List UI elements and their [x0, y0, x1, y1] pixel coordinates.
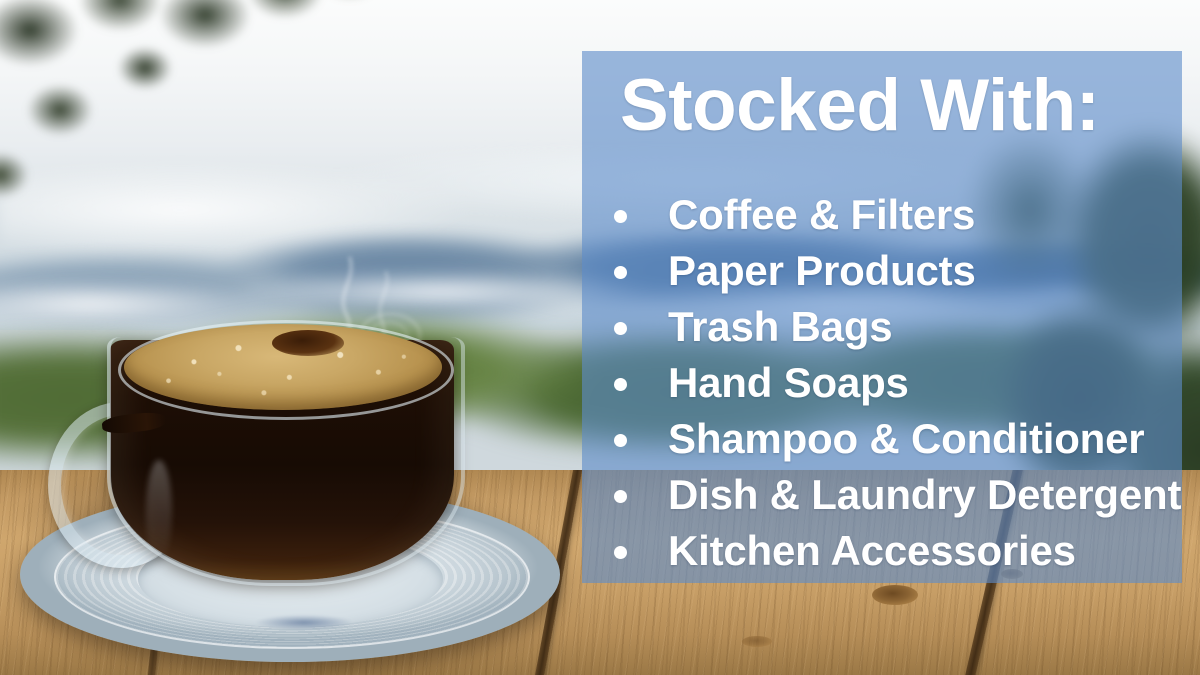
list-item: Kitchen Accessories [610, 523, 1170, 579]
list-item-label: Trash Bags [668, 303, 892, 350]
list-item-label: Hand Soaps [668, 359, 909, 406]
list-item: Coffee & Filters [610, 187, 1170, 243]
list-item: Paper Products [610, 243, 1170, 299]
wood-knot [872, 585, 918, 605]
promo-slide: Stocked With: Coffee & Filters Paper Pro… [0, 0, 1200, 675]
coffee-cup [96, 340, 468, 590]
list-item: Trash Bags [610, 299, 1170, 355]
list-item-label: Shampoo & Conditioner [668, 415, 1144, 462]
bullet-icon [614, 210, 627, 223]
bullet-icon [614, 546, 627, 559]
list-item: Dish & Laundry Detergent [610, 467, 1170, 523]
list-item-label: Dish & Laundry Detergent [668, 471, 1181, 518]
bullet-icon [614, 490, 627, 503]
list-item: Hand Soaps [610, 355, 1170, 411]
bullet-icon [614, 266, 627, 279]
list-item-label: Paper Products [668, 247, 976, 294]
coffee-crema-foam [124, 324, 442, 410]
stocked-with-panel: Stocked With: Coffee & Filters Paper Pro… [582, 51, 1182, 583]
list-item: Shampoo & Conditioner [610, 411, 1170, 467]
saucer-maker-mark [256, 615, 352, 630]
list-item-label: Kitchen Accessories [668, 527, 1076, 574]
bullet-icon [614, 434, 627, 447]
panel-title: Stocked With: [620, 69, 1100, 142]
wood-knot [742, 636, 772, 647]
bullet-icon [614, 378, 627, 391]
crema-dark-spot [272, 330, 344, 356]
stocked-items-list: Coffee & Filters Paper Products Trash Ba… [610, 187, 1170, 579]
list-item-label: Coffee & Filters [668, 191, 975, 238]
glass-highlight [146, 460, 172, 564]
bullet-icon [614, 322, 627, 335]
